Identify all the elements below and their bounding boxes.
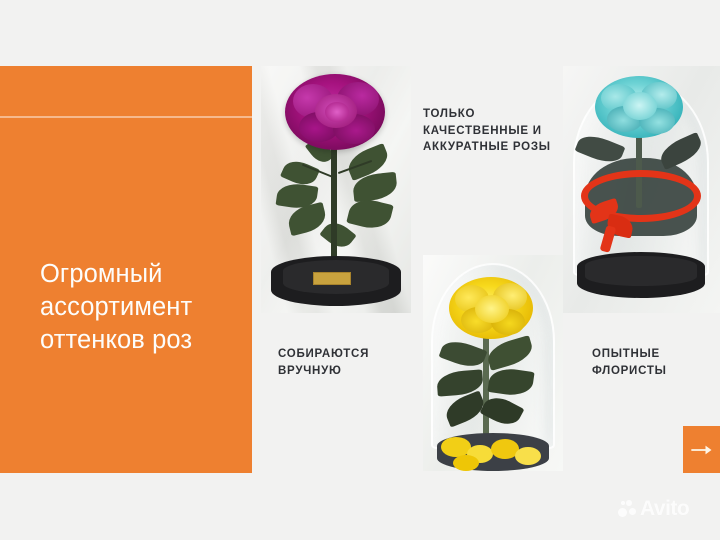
rose-bloom [449,277,533,339]
arrow-right-icon [691,444,713,456]
photo-turquoise-rose[interactable] [563,66,720,313]
avito-watermark: Avito [618,498,689,519]
avito-wordmark: Avito [640,498,689,519]
rose-bloom [285,74,385,150]
panel-divider [0,116,252,118]
caption-florists: ОПЫТНЫЕ ФЛОРИСТЫ [592,346,720,379]
name-plaque [313,272,351,285]
headline-panel: Огромный ассортимент оттенков роз [0,66,252,473]
photo-magenta-rose[interactable] [261,66,411,313]
photo-yellow-rose[interactable] [423,255,563,471]
next-slide-button[interactable] [683,426,720,473]
rose-bloom [595,76,683,138]
caption-quality: ТОЛЬКО КАЧЕСТВЕННЫЕ И АККУРАТНЫЕ РОЗЫ [423,106,563,156]
caption-handmade: СОБИРАЮТСЯ ВРУЧНУЮ [278,346,418,379]
avito-logo-icon [618,500,636,518]
page-title: Огромный ассортимент оттенков роз [40,258,252,357]
stem [331,130,337,264]
display-base-inner [585,256,697,286]
promo-slide: Огромный ассортимент оттенков роз [0,0,720,540]
